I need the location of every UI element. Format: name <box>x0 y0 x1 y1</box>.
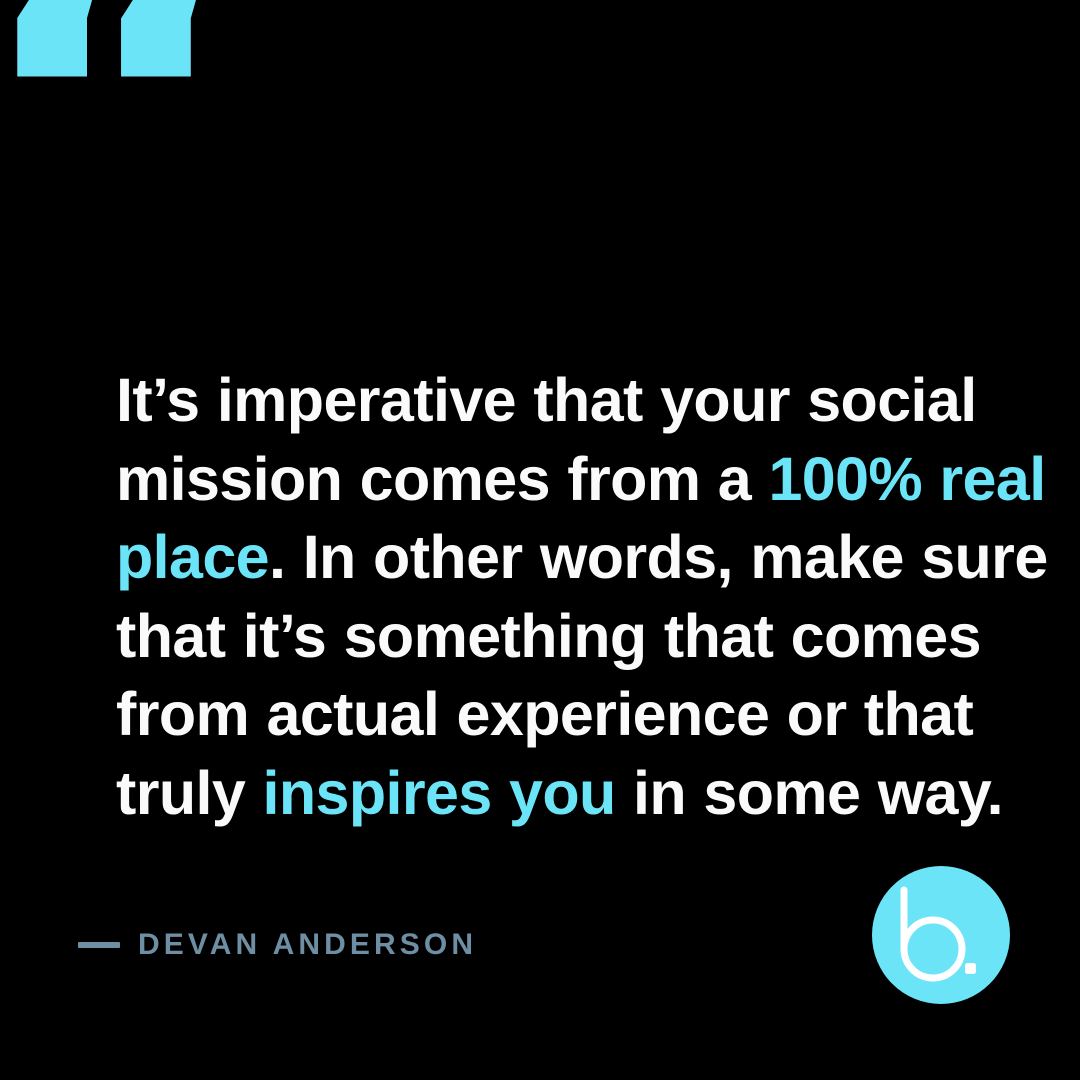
attribution: DEVAN ANDERSON <box>78 928 477 962</box>
quote-segment-4: in some way. <box>616 759 1003 827</box>
quote-mark-icon: “ <box>0 0 234 278</box>
author-name: DEVAN ANDERSON <box>138 928 477 962</box>
quote-text: It’s imperative that your social mission… <box>116 361 1056 832</box>
brand-logo[interactable] <box>872 866 1010 1004</box>
quote-card: “ It’s imperative that your social missi… <box>0 0 1080 1080</box>
quote-segment-3-highlight: inspires you <box>263 759 616 827</box>
brand-logo-b-icon <box>872 866 1010 1004</box>
attribution-dash-icon <box>78 942 120 948</box>
